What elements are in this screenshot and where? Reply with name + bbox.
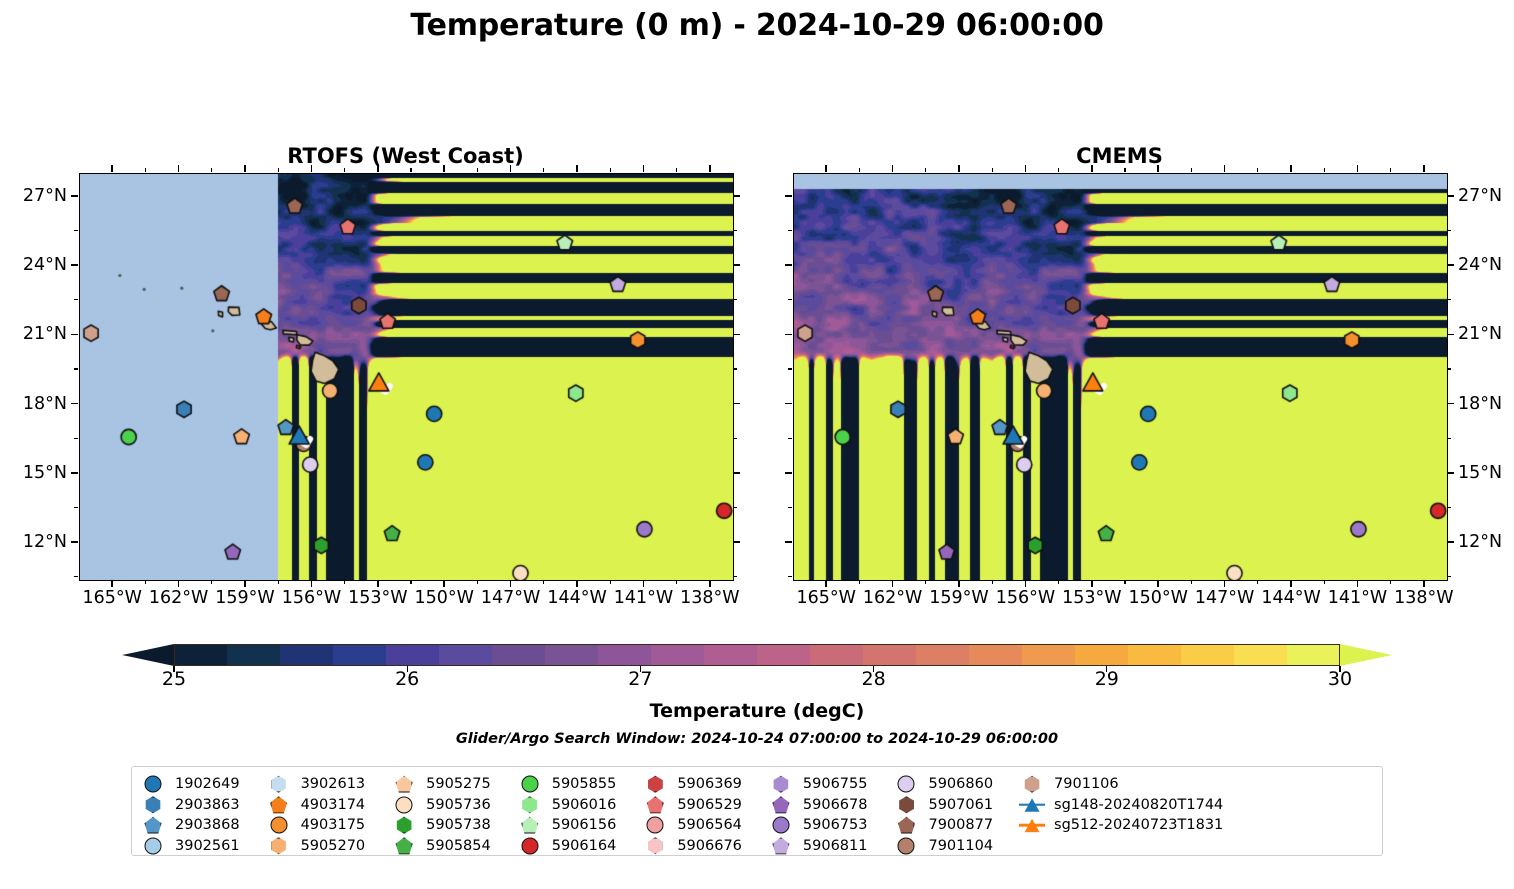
marker-hex	[270, 776, 287, 793]
x-tick-minor-top	[676, 168, 677, 172]
x-tick-minor	[344, 580, 345, 584]
x-tick-major	[709, 580, 711, 587]
x-tick-label-7: 144°W	[547, 588, 606, 608]
legend-label: 7900877	[928, 817, 993, 833]
marker-pent	[647, 796, 664, 813]
x-tick-label-5: 150°W	[415, 588, 474, 608]
platform-legend[interactable]: 1902649290386329038683902561390261349031…	[131, 766, 1383, 856]
legend-item-2903868[interactable]: 2903868	[140, 815, 240, 836]
x-tick-major-top	[377, 165, 379, 172]
legend-item-5905275[interactable]: 5905275	[391, 774, 491, 795]
marker-hex	[647, 776, 664, 793]
y-tick-major-right	[733, 334, 740, 336]
x-tick-major-top	[1025, 165, 1027, 172]
marker-pent	[145, 817, 162, 834]
legend-label: 7901104	[928, 838, 993, 854]
y-tick-minor-right	[733, 438, 737, 439]
x-tick-minor	[145, 580, 146, 584]
x-tick-minor-top	[410, 168, 411, 172]
x-tick-major-top	[178, 165, 180, 172]
x-tick-label-8: 141°W	[614, 588, 673, 608]
x-tick-minor-top	[543, 168, 544, 172]
legend-marker-hex-icon	[266, 837, 292, 855]
legend-label: 5905736	[426, 797, 491, 813]
x-tick-minor-top	[1124, 168, 1125, 172]
marker-circle	[145, 837, 162, 854]
marker-circle	[521, 837, 538, 854]
y-tick-minor-right	[1447, 576, 1451, 577]
x-tick-major-top	[111, 165, 113, 172]
y-tick-minor-right	[1447, 230, 1451, 231]
legend-item-5906016[interactable]: 5906016	[517, 795, 617, 816]
legend-label: 5906156	[552, 817, 617, 833]
legend-item-1902649[interactable]: 1902649	[140, 774, 240, 795]
x-tick-major	[643, 580, 645, 587]
legend-item-4903175[interactable]: 4903175	[266, 815, 366, 836]
x-tick-minor-top	[344, 168, 345, 172]
x-tick-minor-top	[1058, 168, 1059, 172]
legend-label: 5905854	[426, 838, 491, 854]
x-tick-major-top	[958, 165, 960, 172]
y-tick-major-left	[71, 403, 78, 405]
x-tick-minor	[676, 580, 677, 584]
legend-item-5905855[interactable]: 5905855	[517, 774, 617, 795]
y-tick-minor-left	[788, 438, 792, 439]
x-tick-major-top	[443, 165, 445, 172]
legend-label: 5906529	[677, 797, 742, 813]
legend-label: 7901106	[1054, 776, 1119, 792]
legend-item-5905854[interactable]: 5905854	[391, 836, 491, 857]
y-tick-label-left-3: 18°N	[1, 394, 67, 414]
legend-marker-hex-icon	[893, 796, 919, 814]
legend-item-5906529[interactable]: 5906529	[642, 795, 742, 816]
x-tick-label-0: 165°W	[82, 588, 141, 608]
marker-hex	[145, 796, 162, 813]
marker-pent	[772, 796, 789, 813]
x-tick-minor-top	[925, 168, 926, 172]
x-tick-minor	[859, 580, 860, 584]
legend-label: 5906564	[677, 817, 742, 833]
x-tick-major-top	[1224, 165, 1226, 172]
legend-marker-pent-icon	[642, 796, 668, 814]
marker-circle	[647, 817, 664, 834]
legend-marker-pent-icon	[391, 837, 417, 855]
legend-item-5906753[interactable]: 5906753	[768, 815, 868, 836]
x-tick-minor-top	[1191, 168, 1192, 172]
marker-circle	[270, 817, 287, 834]
x-tick-label-3: 156°W	[996, 588, 1055, 608]
y-tick-minor-right	[733, 299, 737, 300]
x-tick-label-7: 144°W	[1261, 588, 1320, 608]
legend-label: 3902613	[301, 776, 366, 792]
legend-item-5906678[interactable]: 5906678	[768, 795, 868, 816]
y-tick-minor-left	[74, 230, 78, 231]
legend-label: 5906676	[677, 838, 742, 854]
y-tick-minor-left	[74, 438, 78, 439]
legend-marker-hex-icon	[517, 796, 543, 814]
legend-marker-circle-icon	[893, 837, 919, 855]
x-tick-minor-top	[1390, 168, 1391, 172]
legend-marker-pent-icon	[391, 775, 417, 793]
legend-grid: 1902649290386329038683902561390261349031…	[140, 774, 1223, 856]
y-tick-label-right-0: 27°N	[1458, 186, 1514, 206]
y-tick-major-right	[733, 403, 740, 405]
x-tick-major	[1157, 580, 1159, 587]
legend-marker-pent-icon	[140, 816, 166, 834]
y-tick-major-left	[785, 541, 792, 543]
legend-marker-pent-icon	[768, 796, 794, 814]
y-tick-major-right	[1447, 403, 1454, 405]
legend-marker-circle-icon	[391, 796, 417, 814]
legend-label: sg148-20240820T1744	[1054, 797, 1223, 813]
legend-label: 4903174	[301, 797, 366, 813]
x-tick-minor	[278, 580, 279, 584]
legend-marker-glider-icon	[1019, 796, 1045, 814]
x-tick-major-top	[643, 165, 645, 172]
x-tick-minor-top	[211, 168, 212, 172]
y-tick-minor-left	[788, 368, 792, 369]
legend-label: 5905738	[426, 817, 491, 833]
marker-pent	[772, 837, 789, 854]
y-tick-minor-left	[788, 230, 792, 231]
y-tick-major-right	[733, 541, 740, 543]
y-tick-label-left-4: 15°N	[1, 463, 67, 483]
x-tick-minor	[211, 580, 212, 584]
legend-marker-circle-icon	[517, 837, 543, 855]
legend-item-5907061[interactable]: 5907061	[893, 795, 993, 816]
marker-pent	[396, 837, 413, 854]
y-tick-major-left	[785, 472, 792, 474]
y-tick-label-right-1: 24°N	[1458, 255, 1514, 275]
legend-label: sg512-20240723T1831	[1054, 817, 1223, 833]
y-tick-label-left-2: 21°N	[1, 324, 67, 344]
marker-pent	[898, 817, 915, 834]
y-tick-major-right	[733, 472, 740, 474]
y-tick-minor-right	[733, 576, 737, 577]
y-tick-major-left	[71, 334, 78, 336]
y-tick-major-right	[1447, 541, 1454, 543]
legend-label: 5906860	[928, 776, 993, 792]
x-tick-label-6: 147°W	[481, 588, 540, 608]
legend-marker-pent-icon	[266, 796, 292, 814]
legend-marker-circle-icon	[266, 816, 292, 834]
y-tick-label-right-2: 21°N	[1458, 324, 1514, 344]
x-tick-major	[1025, 580, 1027, 587]
marker-circle	[396, 796, 413, 813]
legend-marker-circle-icon	[140, 775, 166, 793]
x-tick-major-top	[244, 165, 246, 172]
search-window-annotation: Glider/Argo Search Window: 2024-10-24 07…	[0, 731, 1514, 747]
x-tick-minor-top	[1257, 168, 1258, 172]
x-tick-minor	[477, 580, 478, 584]
y-tick-label-left-5: 12°N	[1, 532, 67, 552]
x-tick-label-8: 141°W	[1328, 588, 1387, 608]
marker-hex	[898, 796, 915, 813]
marker-hex	[521, 796, 538, 813]
legend-label: 5905270	[301, 838, 366, 854]
y-tick-minor-left	[788, 576, 792, 577]
legend-label: 5907061	[928, 797, 993, 813]
legend-item-2903863[interactable]: 2903863	[140, 795, 240, 816]
x-tick-label-4: 153°W	[1062, 588, 1121, 608]
x-tick-label-9: 138°W	[1394, 588, 1453, 608]
marker-hex	[772, 776, 789, 793]
legend-label: 1902649	[175, 776, 240, 792]
legend-item-5906564[interactable]: 5906564	[642, 815, 742, 836]
axis-decorations: 165°W162°W159°W156°W153°W150°W147°W144°W…	[0, 0, 1514, 889]
legend-label: 5906678	[803, 797, 868, 813]
marker-hex	[270, 837, 287, 854]
marker-circle	[521, 776, 538, 793]
x-tick-minor	[1058, 580, 1059, 584]
legend-marker-circle-icon	[140, 837, 166, 855]
legend-marker-glider-icon	[1019, 816, 1045, 834]
x-tick-minor	[610, 580, 611, 584]
x-tick-label-3: 156°W	[282, 588, 341, 608]
legend-label: 5906164	[552, 838, 617, 854]
x-tick-major	[178, 580, 180, 587]
x-tick-major	[1290, 580, 1292, 587]
legend-marker-circle-icon	[768, 816, 794, 834]
x-tick-major	[1357, 580, 1359, 587]
legend-item-5905738[interactable]: 5905738	[391, 815, 491, 836]
y-tick-minor-left	[74, 507, 78, 508]
x-tick-label-1: 162°W	[149, 588, 208, 608]
x-tick-major	[311, 580, 313, 587]
x-tick-major	[1224, 580, 1226, 587]
x-tick-major	[510, 580, 512, 587]
x-tick-major	[576, 580, 578, 587]
y-tick-major-right	[1447, 195, 1454, 197]
y-tick-major-right	[1447, 264, 1454, 266]
x-tick-major-top	[1157, 165, 1159, 172]
x-tick-minor	[1124, 580, 1125, 584]
x-tick-minor-top	[859, 168, 860, 172]
x-tick-label-2: 159°W	[929, 588, 988, 608]
x-tick-major-top	[1290, 165, 1292, 172]
x-tick-major-top	[1091, 165, 1093, 172]
legend-item-sg512-20240723T1831[interactable]: sg512-20240723T1831	[1019, 815, 1223, 836]
legend-marker-hex-icon	[768, 775, 794, 793]
marker-pent	[396, 776, 413, 793]
y-tick-label-left-0: 27°N	[1, 186, 67, 206]
marker-circle	[145, 776, 162, 793]
x-tick-major-top	[1357, 165, 1359, 172]
legend-marker-hex-icon	[1019, 775, 1045, 793]
marker-pent	[270, 796, 287, 813]
x-tick-major	[244, 580, 246, 587]
legend-label: 5905855	[552, 776, 617, 792]
x-tick-label-6: 147°W	[1195, 588, 1254, 608]
y-tick-minor-right	[1447, 507, 1451, 508]
x-tick-minor	[1324, 580, 1325, 584]
y-tick-minor-right	[733, 230, 737, 231]
legend-label: 4903175	[301, 817, 366, 833]
legend-item-5906811[interactable]: 5906811	[768, 836, 868, 857]
y-tick-major-left	[71, 541, 78, 543]
y-tick-major-right	[1447, 334, 1454, 336]
x-tick-major-top	[825, 165, 827, 172]
x-tick-minor	[1390, 580, 1391, 584]
y-tick-major-left	[785, 403, 792, 405]
x-tick-major	[443, 580, 445, 587]
y-tick-major-left	[71, 264, 78, 266]
y-tick-label-right-5: 12°N	[1458, 532, 1514, 552]
x-tick-major-top	[892, 165, 894, 172]
x-tick-label-5: 150°W	[1129, 588, 1188, 608]
legend-marker-pent-icon	[517, 816, 543, 834]
legend-marker-hex-icon	[642, 775, 668, 793]
x-tick-label-4: 153°W	[348, 588, 407, 608]
y-tick-minor-right	[733, 368, 737, 369]
marker-hex	[396, 817, 413, 834]
colorbar-label: Temperature (degC)	[0, 700, 1514, 722]
x-tick-minor	[410, 580, 411, 584]
x-tick-minor-top	[992, 168, 993, 172]
legend-label: 5906016	[552, 797, 617, 813]
marker-hex	[647, 837, 664, 854]
y-tick-major-right	[1447, 472, 1454, 474]
x-tick-label-2: 159°W	[215, 588, 274, 608]
x-tick-major-top	[510, 165, 512, 172]
x-tick-major-top	[576, 165, 578, 172]
legend-label: 3902561	[175, 838, 240, 854]
marker-circle	[898, 837, 915, 854]
x-tick-minor	[1257, 580, 1258, 584]
x-tick-minor	[925, 580, 926, 584]
y-tick-minor-left	[74, 368, 78, 369]
legend-item-5906676[interactable]: 5906676	[642, 836, 742, 857]
x-tick-minor-top	[477, 168, 478, 172]
legend-item-5906755[interactable]: 5906755	[768, 774, 868, 795]
y-tick-major-left	[785, 334, 792, 336]
x-tick-minor	[1191, 580, 1192, 584]
y-tick-minor-left	[788, 299, 792, 300]
x-tick-label-0: 165°W	[796, 588, 855, 608]
legend-marker-pent-icon	[768, 837, 794, 855]
legend-label: 2903868	[175, 817, 240, 833]
y-tick-label-left-1: 24°N	[1, 255, 67, 275]
y-tick-minor-left	[788, 507, 792, 508]
x-tick-minor-top	[278, 168, 279, 172]
legend-label: 5906811	[803, 838, 868, 854]
legend-item-5905270[interactable]: 5905270	[266, 836, 366, 857]
x-tick-major-top	[1423, 165, 1425, 172]
legend-marker-circle-icon	[893, 775, 919, 793]
legend-label: 2903863	[175, 797, 240, 813]
legend-marker-circle-icon	[517, 775, 543, 793]
legend-item-5905736[interactable]: 5905736	[391, 795, 491, 816]
marker-circle	[772, 817, 789, 834]
marker-hex	[1024, 776, 1041, 793]
legend-item-sg148-20240820T1744[interactable]: sg148-20240820T1744	[1019, 795, 1223, 816]
legend-item-3902613[interactable]: 3902613	[266, 774, 366, 795]
legend-label: 5906755	[803, 776, 868, 792]
x-tick-major	[1423, 580, 1425, 587]
y-tick-major-left	[785, 264, 792, 266]
legend-label: 5905275	[426, 776, 491, 792]
y-tick-label-right-3: 18°N	[1458, 394, 1514, 414]
x-tick-minor-top	[145, 168, 146, 172]
x-tick-major	[1091, 580, 1093, 587]
legend-item-5906860[interactable]: 5906860	[893, 774, 993, 795]
marker-pent	[521, 817, 538, 834]
x-tick-minor-top	[610, 168, 611, 172]
x-tick-minor	[543, 580, 544, 584]
legend-item-7901106[interactable]: 7901106	[1019, 774, 1223, 795]
y-tick-major-left	[71, 472, 78, 474]
y-tick-minor-right	[1447, 368, 1451, 369]
legend-item-5906369[interactable]: 5906369	[642, 774, 742, 795]
x-tick-major	[825, 580, 827, 587]
x-tick-major	[892, 580, 894, 587]
y-tick-major-right	[733, 195, 740, 197]
y-tick-major-left	[785, 195, 792, 197]
legend-marker-circle-icon	[642, 816, 668, 834]
y-tick-label-right-4: 15°N	[1458, 463, 1514, 483]
x-tick-major	[111, 580, 113, 587]
x-tick-minor-top	[1324, 168, 1325, 172]
legend-marker-hex-icon	[140, 796, 166, 814]
y-tick-minor-right	[1447, 438, 1451, 439]
x-tick-label-9: 138°W	[680, 588, 739, 608]
legend-item-7900877[interactable]: 7900877	[893, 815, 993, 836]
legend-item-4903174[interactable]: 4903174	[266, 795, 366, 816]
legend-marker-hex-icon	[266, 775, 292, 793]
x-tick-label-1: 162°W	[863, 588, 922, 608]
x-tick-major-top	[311, 165, 313, 172]
x-tick-major	[958, 580, 960, 587]
legend-item-3902561[interactable]: 3902561	[140, 836, 240, 857]
x-tick-minor	[992, 580, 993, 584]
legend-item-5906164[interactable]: 5906164	[517, 836, 617, 857]
legend-marker-pent-icon	[893, 816, 919, 834]
marker-circle	[898, 776, 915, 793]
y-tick-major-right	[733, 264, 740, 266]
y-tick-major-left	[71, 195, 78, 197]
legend-item-5906156[interactable]: 5906156	[517, 815, 617, 836]
y-tick-minor-right	[1447, 299, 1451, 300]
y-tick-minor-left	[74, 576, 78, 577]
legend-item-7901104[interactable]: 7901104	[893, 836, 993, 857]
x-tick-major	[377, 580, 379, 587]
legend-marker-hex-icon	[642, 837, 668, 855]
legend-marker-hex-icon	[391, 816, 417, 834]
y-tick-minor-right	[733, 507, 737, 508]
x-tick-major-top	[709, 165, 711, 172]
y-tick-minor-left	[74, 299, 78, 300]
legend-label: 5906753	[803, 817, 868, 833]
legend-label: 5906369	[677, 776, 742, 792]
